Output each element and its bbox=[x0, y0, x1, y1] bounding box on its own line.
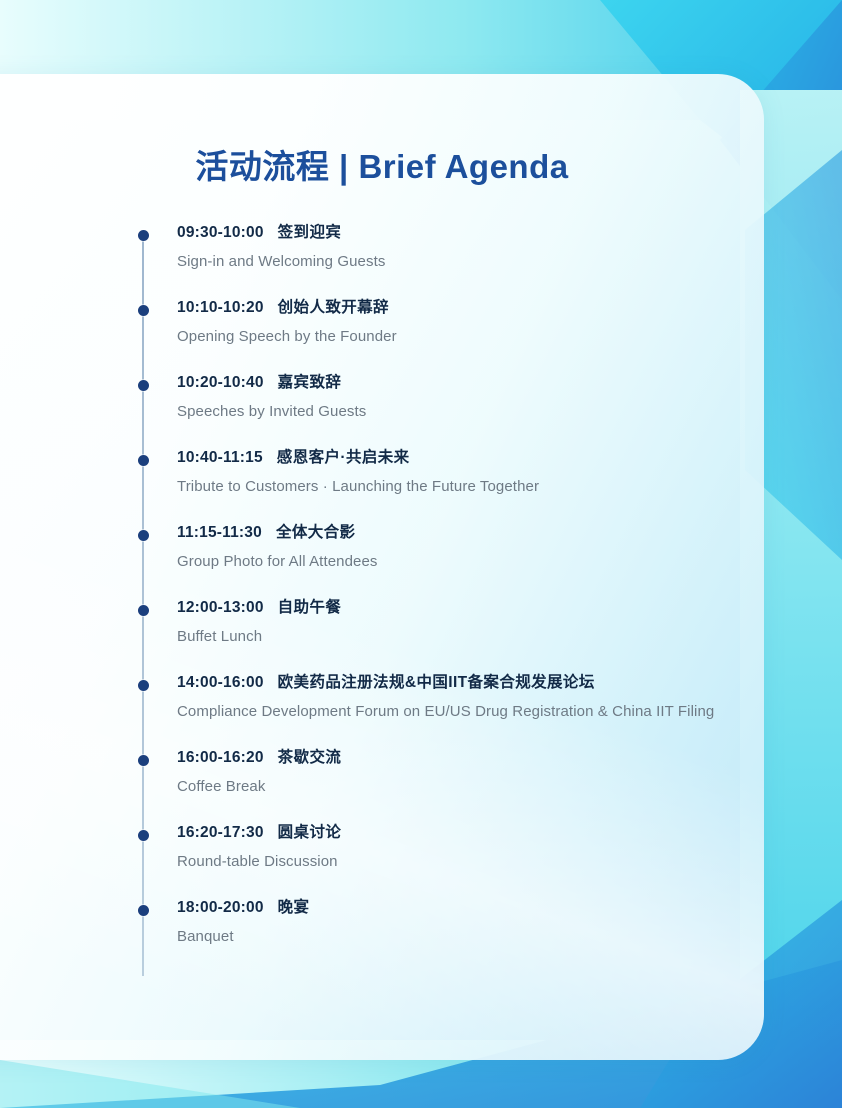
agenda-item-title-zh: 晚宴 bbox=[278, 899, 310, 916]
timeline-dot-icon bbox=[138, 305, 149, 316]
agenda-item-time: 14:00-16:00 bbox=[177, 674, 264, 691]
timeline-dot-icon bbox=[138, 905, 149, 916]
agenda-item-title-zh: 圆桌讨论 bbox=[278, 824, 342, 841]
page-title: 活动流程 | Brief Agenda bbox=[0, 140, 764, 188]
timeline-dot-icon bbox=[138, 530, 149, 541]
agenda-item-title-zh: 感恩客户·共启未来 bbox=[277, 449, 410, 466]
agenda-item-heading: 09:30-10:00签到迎宾 bbox=[177, 222, 764, 244]
agenda-item[interactable]: 10:10-10:20创始人致开幕辞 Opening Speech by the… bbox=[0, 297, 764, 347]
agenda-item-title-zh: 创始人致开幕辞 bbox=[278, 299, 389, 316]
agenda-item-title-en: Tribute to Customers · Launching the Fut… bbox=[177, 476, 764, 497]
timeline-dot-icon bbox=[138, 605, 149, 616]
agenda-item-time: 10:10-10:20 bbox=[177, 299, 264, 316]
agenda-item-title-zh: 茶歇交流 bbox=[278, 749, 342, 766]
agenda-item-heading: 14:00-16:00欧美药品注册法规&中国IIT备案合规发展论坛 bbox=[177, 672, 764, 694]
agenda-item-heading: 11:15-11:30全体大合影 bbox=[177, 522, 764, 544]
agenda-item-title-zh: 全体大合影 bbox=[276, 524, 356, 541]
agenda-poster: 活动流程 | Brief Agenda 09:30-10:00签到迎宾 Sign… bbox=[0, 0, 842, 1108]
agenda-timeline: 09:30-10:00签到迎宾 Sign-in and Welcoming Gu… bbox=[0, 222, 764, 947]
agenda-item-title-zh: 签到迎宾 bbox=[278, 224, 342, 241]
agenda-item-title-zh: 嘉宾致辞 bbox=[278, 374, 342, 391]
agenda-item-title-en: Buffet Lunch bbox=[177, 626, 764, 647]
timeline-dot-icon bbox=[138, 680, 149, 691]
agenda-item-time: 10:20-10:40 bbox=[177, 374, 264, 391]
timeline-dot-icon bbox=[138, 830, 149, 841]
timeline-dot-icon bbox=[138, 455, 149, 466]
agenda-item-heading: 16:00-16:20茶歇交流 bbox=[177, 747, 764, 769]
card-content: 活动流程 | Brief Agenda 09:30-10:00签到迎宾 Sign… bbox=[0, 74, 764, 1060]
agenda-item-time: 11:15-11:30 bbox=[177, 524, 262, 541]
agenda-item-title-en: Opening Speech by the Founder bbox=[177, 326, 764, 347]
agenda-item-time: 12:00-13:00 bbox=[177, 599, 264, 616]
agenda-item[interactable]: 10:40-11:15感恩客户·共启未来 Tribute to Customer… bbox=[0, 447, 764, 497]
agenda-item-heading: 16:20-17:30圆桌讨论 bbox=[177, 822, 764, 844]
agenda-item-title-en: Compliance Development Forum on EU/US Dr… bbox=[177, 701, 764, 722]
timeline-dot-icon bbox=[138, 380, 149, 391]
agenda-item-title-en: Group Photo for All Attendees bbox=[177, 551, 764, 572]
timeline-dot-icon bbox=[138, 230, 149, 241]
agenda-item[interactable]: 14:00-16:00欧美药品注册法规&中国IIT备案合规发展论坛 Compli… bbox=[0, 672, 764, 722]
agenda-item-title-en: Round-table Discussion bbox=[177, 851, 764, 872]
agenda-item-title-en: Sign-in and Welcoming Guests bbox=[177, 251, 764, 272]
timeline-dot-icon bbox=[138, 755, 149, 766]
agenda-item-time: 18:00-20:00 bbox=[177, 899, 264, 916]
agenda-item-heading: 10:10-10:20创始人致开幕辞 bbox=[177, 297, 764, 319]
agenda-item-title-en: Banquet bbox=[177, 926, 764, 947]
agenda-item-title-zh: 欧美药品注册法规&中国IIT备案合规发展论坛 bbox=[278, 674, 595, 691]
agenda-item[interactable]: 11:15-11:30全体大合影 Group Photo for All Att… bbox=[0, 522, 764, 572]
agenda-item-time: 09:30-10:00 bbox=[177, 224, 264, 241]
agenda-item-title-en: Speeches by Invited Guests bbox=[177, 401, 764, 422]
agenda-item[interactable]: 16:00-16:20茶歇交流 Coffee Break bbox=[0, 747, 764, 797]
agenda-item-heading: 10:20-10:40嘉宾致辞 bbox=[177, 372, 764, 394]
agenda-item[interactable]: 16:20-17:30圆桌讨论 Round-table Discussion bbox=[0, 822, 764, 872]
agenda-list: 09:30-10:00签到迎宾 Sign-in and Welcoming Gu… bbox=[0, 222, 764, 947]
agenda-item-time: 16:20-17:30 bbox=[177, 824, 264, 841]
agenda-item[interactable]: 09:30-10:00签到迎宾 Sign-in and Welcoming Gu… bbox=[0, 222, 764, 272]
agenda-item[interactable]: 10:20-10:40嘉宾致辞 Speeches by Invited Gues… bbox=[0, 372, 764, 422]
agenda-item-heading: 10:40-11:15感恩客户·共启未来 bbox=[177, 447, 764, 469]
agenda-item-time: 16:00-16:20 bbox=[177, 749, 264, 766]
agenda-item-heading: 12:00-13:00自助午餐 bbox=[177, 597, 764, 619]
agenda-item[interactable]: 12:00-13:00自助午餐 Buffet Lunch bbox=[0, 597, 764, 647]
agenda-item-title-zh: 自助午餐 bbox=[278, 599, 342, 616]
agenda-item[interactable]: 18:00-20:00晚宴 Banquet bbox=[0, 897, 764, 947]
agenda-item-time: 10:40-11:15 bbox=[177, 449, 263, 466]
agenda-item-heading: 18:00-20:00晚宴 bbox=[177, 897, 764, 919]
agenda-item-title-en: Coffee Break bbox=[177, 776, 764, 797]
